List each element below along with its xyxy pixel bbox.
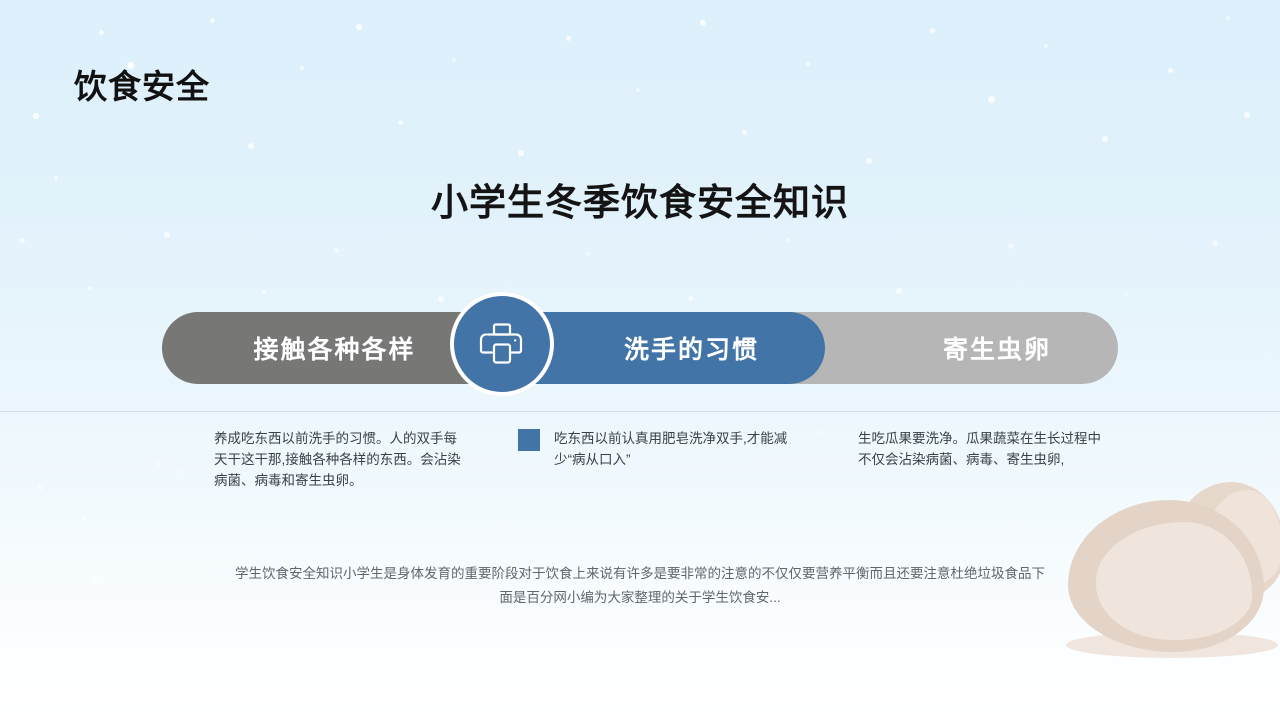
content-column-3: 生吃瓜果要洗净。瓜果蔬菜在生长过程中不仅会沾染病菌、病毒、寄生虫卵, — [858, 428, 1110, 470]
page-title: 饮食安全 — [74, 60, 210, 108]
slide-canvas: 饮食安全 小学生冬季饮食安全知识 接触各种各样 寄生虫卵 洗手的习惯 — [0, 0, 1280, 720]
step-pill-bar: 接触各种各样 寄生虫卵 洗手的习惯 — [162, 312, 1118, 384]
snow-dot — [300, 66, 304, 70]
snow-dot — [806, 62, 810, 66]
snow-dot — [988, 96, 995, 103]
step-pill-parasite-eggs-label: 寄生虫卵 — [943, 330, 1051, 366]
snow-dot — [248, 143, 254, 149]
snow-dot — [38, 484, 44, 490]
snow-dot — [99, 30, 104, 35]
snow-dot — [636, 88, 640, 92]
snow-dot — [156, 462, 161, 467]
content-column-2: 吃东西以前认真用肥皂洗净双手,才能减少“病从口入” — [518, 428, 800, 470]
snow-dot — [518, 150, 524, 156]
snow-dot — [896, 288, 902, 294]
snow-dot — [816, 430, 821, 435]
footer-note: 学生饮食安全知识小学生是身体发育的重要阶段对于饮食上来说有许多是要非常的注意的不… — [0, 562, 1280, 610]
snow-dot — [164, 232, 170, 238]
snow-dot — [398, 120, 403, 125]
snow-dot — [1168, 68, 1173, 73]
content-column-1: 养成吃东西以前洗手的习惯。人的双手每天干这干那,接触各种各样的东西。会沾染病菌、… — [214, 428, 464, 491]
snow-dot — [20, 238, 25, 243]
content-column-2-text: 吃东西以前认真用肥皂洗净双手,才能减少“病从口入” — [554, 428, 800, 470]
snow-dot — [742, 130, 747, 135]
snow-dot — [33, 113, 39, 119]
section-divider — [0, 411, 1280, 412]
snow-dot — [700, 20, 706, 26]
snow-dot — [1102, 136, 1108, 142]
step-pill-contact-label: 接触各种各样 — [253, 330, 415, 366]
snow-dot — [210, 18, 215, 23]
snow-dot — [1244, 112, 1250, 118]
snow-dot — [930, 28, 935, 33]
snow-dot — [1124, 292, 1128, 296]
snow-dot — [1044, 44, 1048, 48]
step-pill-handwashing-label: 洗手的习惯 — [624, 330, 759, 366]
snow-dot — [356, 24, 362, 30]
snow-dot — [1212, 240, 1218, 246]
snow-dot — [786, 238, 790, 242]
footer-note-text: 学生饮食安全知识小学生是身体发育的重要阶段对于饮食上来说有许多是要非常的注意的不… — [235, 562, 1045, 610]
snow-dot — [452, 58, 456, 62]
snow-dot — [206, 544, 211, 549]
snow-dot — [262, 290, 266, 294]
snow-dot — [82, 516, 86, 520]
snow-dot — [688, 296, 693, 301]
snow-dot — [586, 252, 590, 256]
printer-icon-node[interactable] — [450, 292, 554, 396]
snow-dot — [334, 248, 339, 253]
snow-dot — [176, 470, 180, 474]
snow-dot — [1226, 16, 1230, 20]
printer-icon — [479, 322, 525, 366]
snow-dot — [566, 36, 571, 41]
snow-dot — [1008, 244, 1013, 249]
slide-main-title: 小学生冬季饮食安全知识 — [0, 172, 1280, 226]
food-decoration-shadow — [1066, 632, 1278, 658]
bullet-square-icon — [518, 429, 540, 451]
snow-dot — [88, 286, 92, 290]
snow-dot — [866, 158, 872, 164]
snow-dot — [438, 296, 444, 302]
